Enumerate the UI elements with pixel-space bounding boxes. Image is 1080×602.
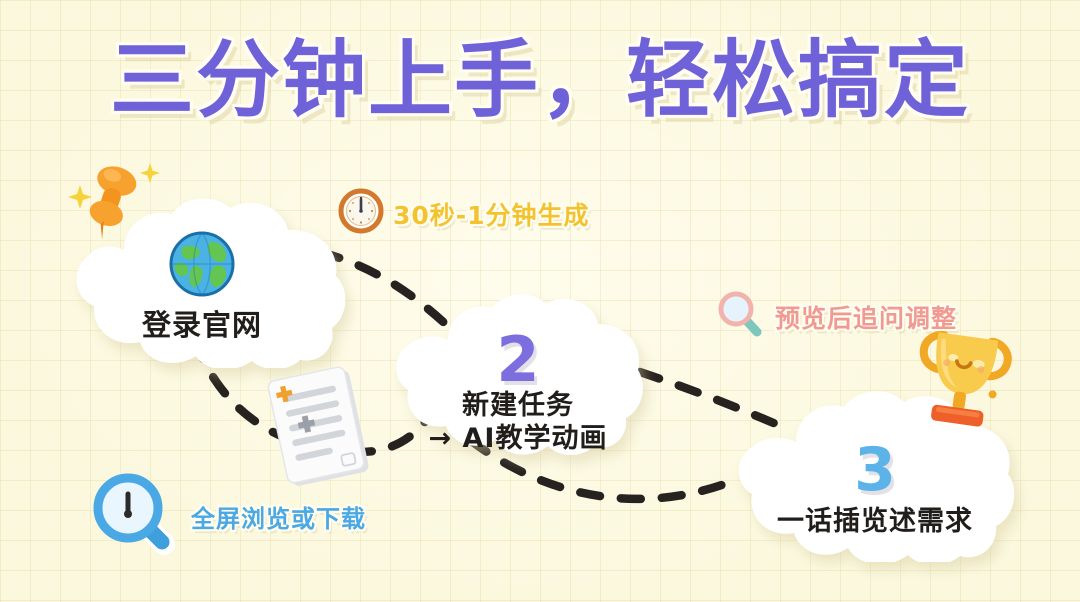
trophy-icon bbox=[906, 324, 1018, 445]
infographic-canvas: 三分钟上手，轻松搞定 bbox=[0, 0, 1080, 602]
clock-icon bbox=[338, 188, 384, 239]
annotation-generation-time-text: 30秒-1分钟生成 bbox=[393, 196, 590, 232]
page-title: 三分钟上手，轻松搞定 bbox=[0, 38, 1080, 122]
document-note-icon bbox=[256, 364, 386, 499]
sparkle-icon bbox=[68, 185, 92, 214]
magnifier-pink-icon bbox=[714, 288, 766, 345]
step-cloud-2[interactable]: 2 新建任务 → AI教学动画 bbox=[390, 292, 646, 456]
magnifier-blue-icon bbox=[86, 466, 182, 567]
annotation-generation-time: 30秒-1分钟生成 bbox=[338, 188, 590, 239]
annotation-fullscreen-download-text: 全屏浏览或下载 bbox=[191, 499, 366, 534]
sparkle-icon bbox=[140, 163, 160, 188]
